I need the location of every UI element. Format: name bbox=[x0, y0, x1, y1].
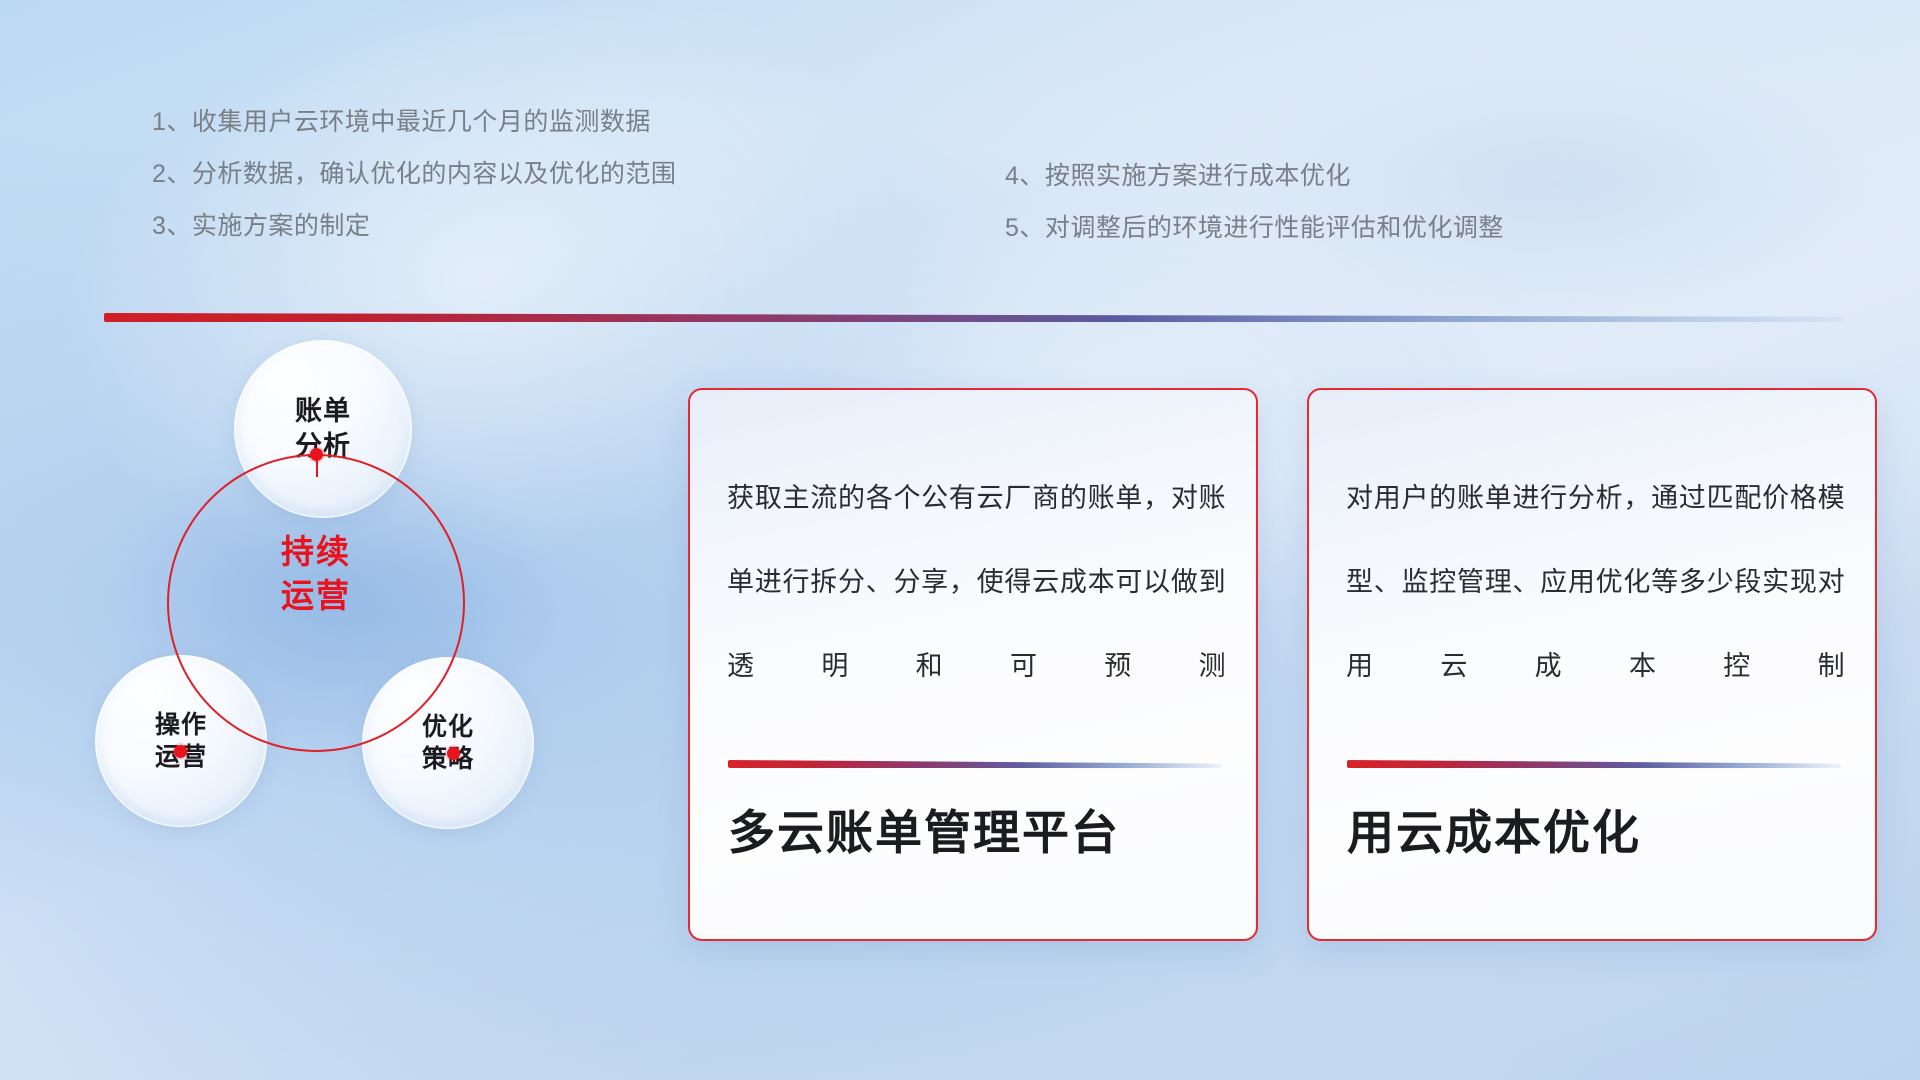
step-item-5: 5、对调整后的环境进行性能评估和优化调整 bbox=[1005, 202, 1504, 254]
step-item-1: 1、收集用户云环境中最近几个月的监测数据 bbox=[152, 96, 676, 148]
diagram-dot-top bbox=[310, 448, 323, 461]
step-item-4: 4、按照实施方案进行成本优化 bbox=[1005, 150, 1504, 202]
continuous-operations-diagram: 持续 运营 账单 分析 操作 运营 优化 策略 bbox=[95, 355, 615, 915]
diagram-dot-right bbox=[447, 747, 460, 760]
steps-right-column: 4、按照实施方案进行成本优化 5、对调整后的环境进行性能评估和优化调整 bbox=[1005, 150, 1504, 254]
card-2-divider bbox=[1347, 760, 1841, 768]
card-cloud-cost-optimization[interactable]: 对用户的账单进行分析，通过匹配价格模型、监控管理、应用优化等多少段实现对用云成本… bbox=[1307, 388, 1877, 941]
diagram-node-bill-analysis-line1: 账单 bbox=[295, 394, 351, 429]
diagram-node-optimization-line1: 优化 bbox=[422, 711, 474, 744]
card-multi-cloud-billing-platform[interactable]: 获取主流的各个公有云厂商的账单，对账单进行拆分、分享，使得云成本可以做到透明和可… bbox=[688, 388, 1258, 941]
diagram-node-operations-line1: 操作 bbox=[155, 709, 207, 742]
diagram-connector-top bbox=[316, 459, 318, 477]
card-1-divider bbox=[728, 760, 1222, 768]
diagram-node-optimization-label: 优化 策略 bbox=[422, 711, 474, 776]
step-item-2: 2、分析数据，确认优化的内容以及优化的范围 bbox=[152, 148, 676, 200]
steps-section: 1、收集用户云环境中最近几个月的监测数据 2、分析数据，确认优化的内容以及优化的… bbox=[0, 0, 1920, 250]
card-1-body: 获取主流的各个公有云厂商的账单，对账单进行拆分、分享，使得云成本可以做到透明和可… bbox=[727, 456, 1226, 708]
card-2-body: 对用户的账单进行分析，通过匹配价格模型、监控管理、应用优化等多少段实现对用云成本… bbox=[1346, 456, 1845, 708]
diagram-center-label: 持续 运营 bbox=[167, 530, 465, 618]
diagram-dot-left bbox=[174, 745, 187, 758]
section-divider bbox=[104, 313, 1844, 322]
card-1-title: 多云账单管理平台 bbox=[728, 805, 1226, 861]
card-2-title: 用云成本优化 bbox=[1347, 805, 1845, 861]
section-divider-bar bbox=[104, 313, 1844, 322]
steps-left-column: 1、收集用户云环境中最近几个月的监测数据 2、分析数据，确认优化的内容以及优化的… bbox=[152, 96, 676, 252]
diagram-node-operations-label: 操作 运营 bbox=[155, 709, 207, 774]
diagram-center-label-line2: 运营 bbox=[167, 574, 465, 618]
step-item-3: 3、实施方案的制定 bbox=[152, 200, 676, 252]
diagram-center-label-line1: 持续 bbox=[167, 530, 465, 574]
